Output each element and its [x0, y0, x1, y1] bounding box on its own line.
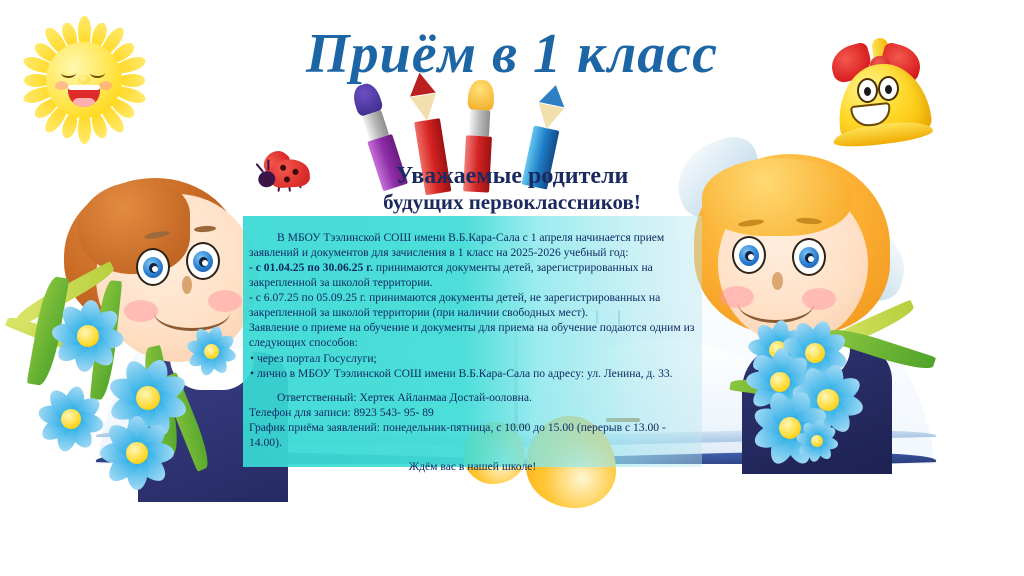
- boy-pupil-right: [199, 257, 208, 267]
- pencil-red-wood: [410, 93, 440, 123]
- pencil-blue-wood: [534, 103, 564, 132]
- responsible-person: Ответственный: Хертек Айланмаа Достай-оо…: [249, 390, 696, 405]
- boy-iris-right: [193, 251, 213, 272]
- announcement-paragraph-2: Заявление о приеме на обучение и докумен…: [249, 320, 696, 350]
- flower: [38, 386, 104, 452]
- flowers-left-bouquet: [0, 276, 270, 546]
- boy-eye-shine-right: [202, 260, 208, 266]
- girl-eye-shine-left: [748, 254, 754, 260]
- boy-pupil-left: [149, 263, 158, 273]
- flower-center: [126, 442, 148, 464]
- girl-pupil-left: [745, 251, 754, 261]
- announcement-paragraph-1: В МБОУ Тээлинской СОШ имени В.Б.Кара-Сал…: [249, 230, 696, 260]
- girl-iris-left: [739, 245, 759, 266]
- announcement-bullet-2: • лично в МБОУ Тээлинской СОШ имени В.Б.…: [249, 366, 696, 381]
- boy-eye-right: [186, 242, 220, 280]
- panel-spacer-2: [249, 450, 696, 459]
- page-title: Приём в 1 класс: [0, 22, 1024, 86]
- girl-eye-shine-right: [808, 256, 814, 262]
- announcement-item-2: - с 6.07.25 по 05.09.25 г. принимаются д…: [249, 290, 696, 320]
- girl-smile: [738, 284, 814, 323]
- flower: [100, 416, 174, 490]
- closing-line: Ждём вас в нашей школе!: [249, 459, 696, 474]
- subtitle-line-2: будущих первоклассников!: [0, 190, 1024, 214]
- bell-pupil-right: [885, 85, 892, 94]
- contact-phone: Телефон для записи: 8923 543- 95- 89: [249, 405, 696, 420]
- announcement-bullet-1: • через портал Госуслуги;: [249, 351, 696, 366]
- panel-spacer-1: [249, 381, 696, 390]
- boy-iris-left: [143, 257, 163, 278]
- flower-center: [61, 409, 81, 429]
- girl-eye-right: [792, 238, 826, 276]
- reception-schedule: График приёма заявлений: понедельник-пят…: [249, 420, 696, 450]
- flower-center: [204, 344, 219, 359]
- decor-vbar-2: [618, 311, 620, 324]
- announcement-panel: В МБОУ Тээлинской СОШ имени В.Б.Кара-Сал…: [243, 216, 702, 467]
- boy-eye-shine-left: [152, 266, 158, 272]
- poster-canvas: Приём в 1 класс Уважаемые родители будущ…: [0, 0, 1024, 576]
- item-1-prefix: -: [249, 261, 256, 274]
- flower-center: [136, 386, 160, 410]
- flower-center: [77, 325, 99, 347]
- girl-pupil-right: [805, 253, 814, 263]
- item-1-dates: с 01.04.25 по 30.06.25 г.: [256, 261, 373, 274]
- flower: [186, 326, 236, 376]
- subtitle-line-1: Уважаемые родители: [0, 163, 1024, 190]
- decor-vbar-1: [596, 311, 598, 324]
- bell-pupil-left: [864, 87, 871, 96]
- girl-iris-right: [799, 247, 819, 268]
- flower: [796, 420, 838, 462]
- subtitle-block: Уважаемые родители будущих первоклассник…: [0, 163, 1024, 214]
- brush-yellow-ferrule: [469, 110, 490, 137]
- announcement-item-1: - с 01.04.25 по 30.06.25 г. принимаются …: [249, 260, 696, 290]
- flowers-right-bouquet: [730, 320, 1010, 550]
- girl-eye-left: [732, 236, 766, 274]
